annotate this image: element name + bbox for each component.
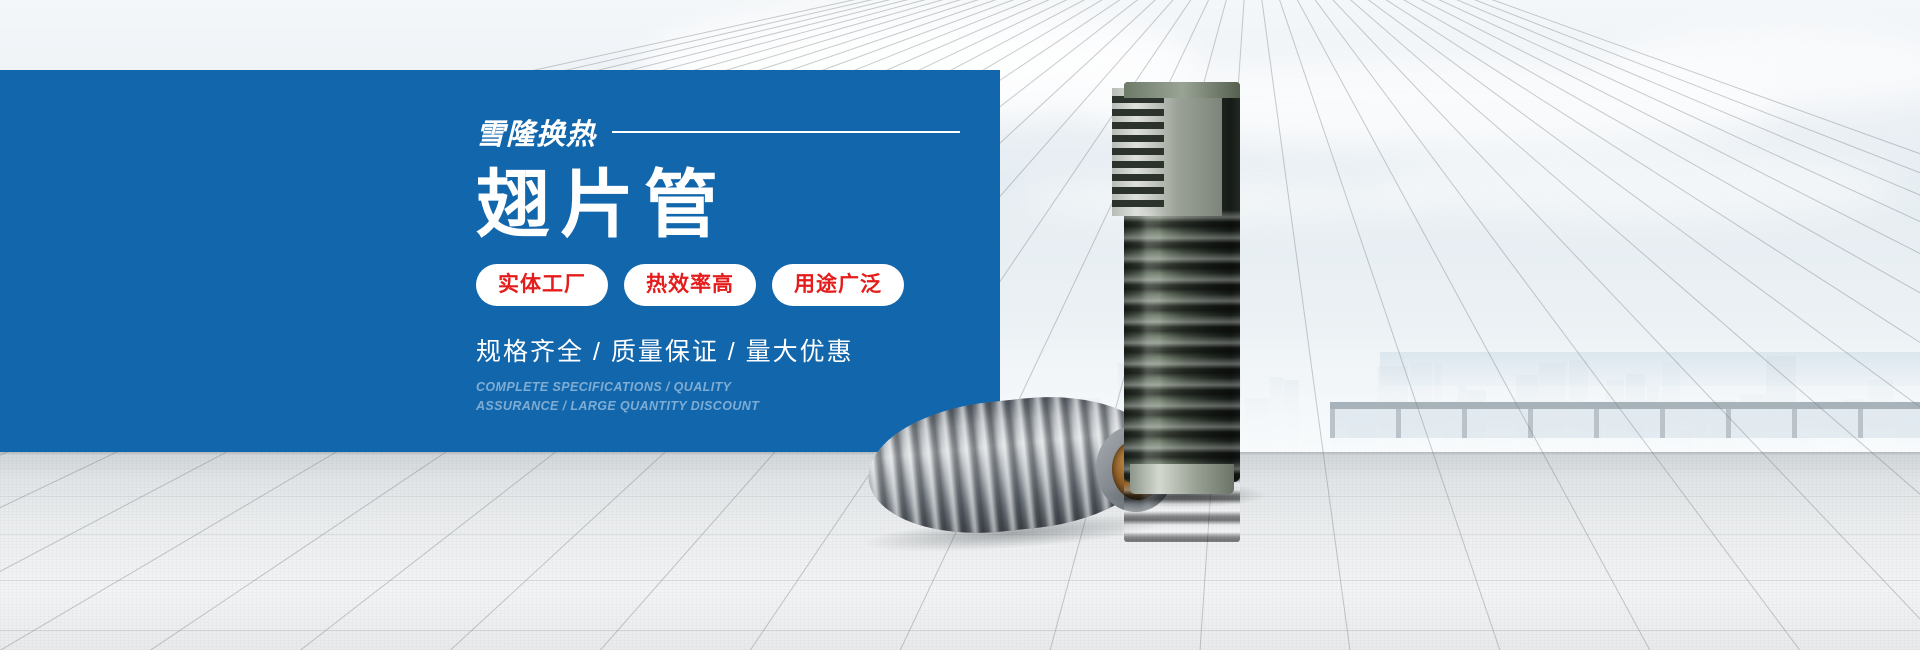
railing-glass-panel	[1863, 409, 1920, 438]
railing-post	[1792, 409, 1797, 438]
railing-post	[1462, 409, 1467, 438]
railing-glass-panel	[1401, 409, 1462, 438]
status-badge[interactable]: 热效率高	[624, 264, 756, 306]
floor-seam-horizontal	[0, 630, 1920, 631]
railing-post	[1396, 409, 1401, 438]
railing-glass-panel	[1335, 409, 1396, 438]
railing-post	[1594, 409, 1599, 438]
railing-post	[1660, 409, 1665, 438]
tube-comb-section	[1112, 88, 1224, 216]
railing-glass-panel	[1467, 409, 1528, 438]
vertical-finned-tube	[1110, 82, 1240, 482]
subtitle-chinese: 规格齐全 / 质量保证 / 量大优惠	[476, 332, 996, 368]
railing-glass-panel	[1533, 409, 1594, 438]
floor-seam-horizontal	[0, 580, 1920, 581]
tube-top-cap	[1124, 82, 1240, 98]
page-title: 翅片管	[476, 166, 996, 244]
railing-glass-panel	[1665, 409, 1726, 438]
railing-post	[1330, 409, 1335, 438]
brand-divider-rule	[612, 131, 960, 133]
product-hero-banner: FINNED 雪隆换热 翅片管 实体工厂 热效率高 用途广泛 规格齐全 / 质量…	[0, 0, 1920, 650]
railing-post	[1726, 409, 1731, 438]
comb-slots	[1112, 96, 1164, 210]
brand-name: 雪隆换热	[476, 111, 596, 153]
railing-glass-panel	[1731, 409, 1792, 438]
feature-badge-group: 实体工厂 热效率高 用途广泛	[476, 264, 996, 306]
brand-row: 雪隆换热	[476, 112, 996, 152]
status-badge[interactable]: 实体工厂	[476, 264, 608, 306]
banner-copy: 雪隆换热 翅片管 实体工厂 热效率高 用途广泛 规格齐全 / 质量保证 / 量大…	[476, 112, 996, 417]
subtitle-english: COMPLETE SPECIFICATIONS / QUALITY ASSURA…	[476, 378, 806, 417]
tube-base-collar	[1130, 464, 1234, 494]
cloud-shape	[1380, 150, 1900, 220]
status-badge[interactable]: 用途广泛	[772, 264, 904, 306]
railing-post	[1858, 409, 1863, 438]
